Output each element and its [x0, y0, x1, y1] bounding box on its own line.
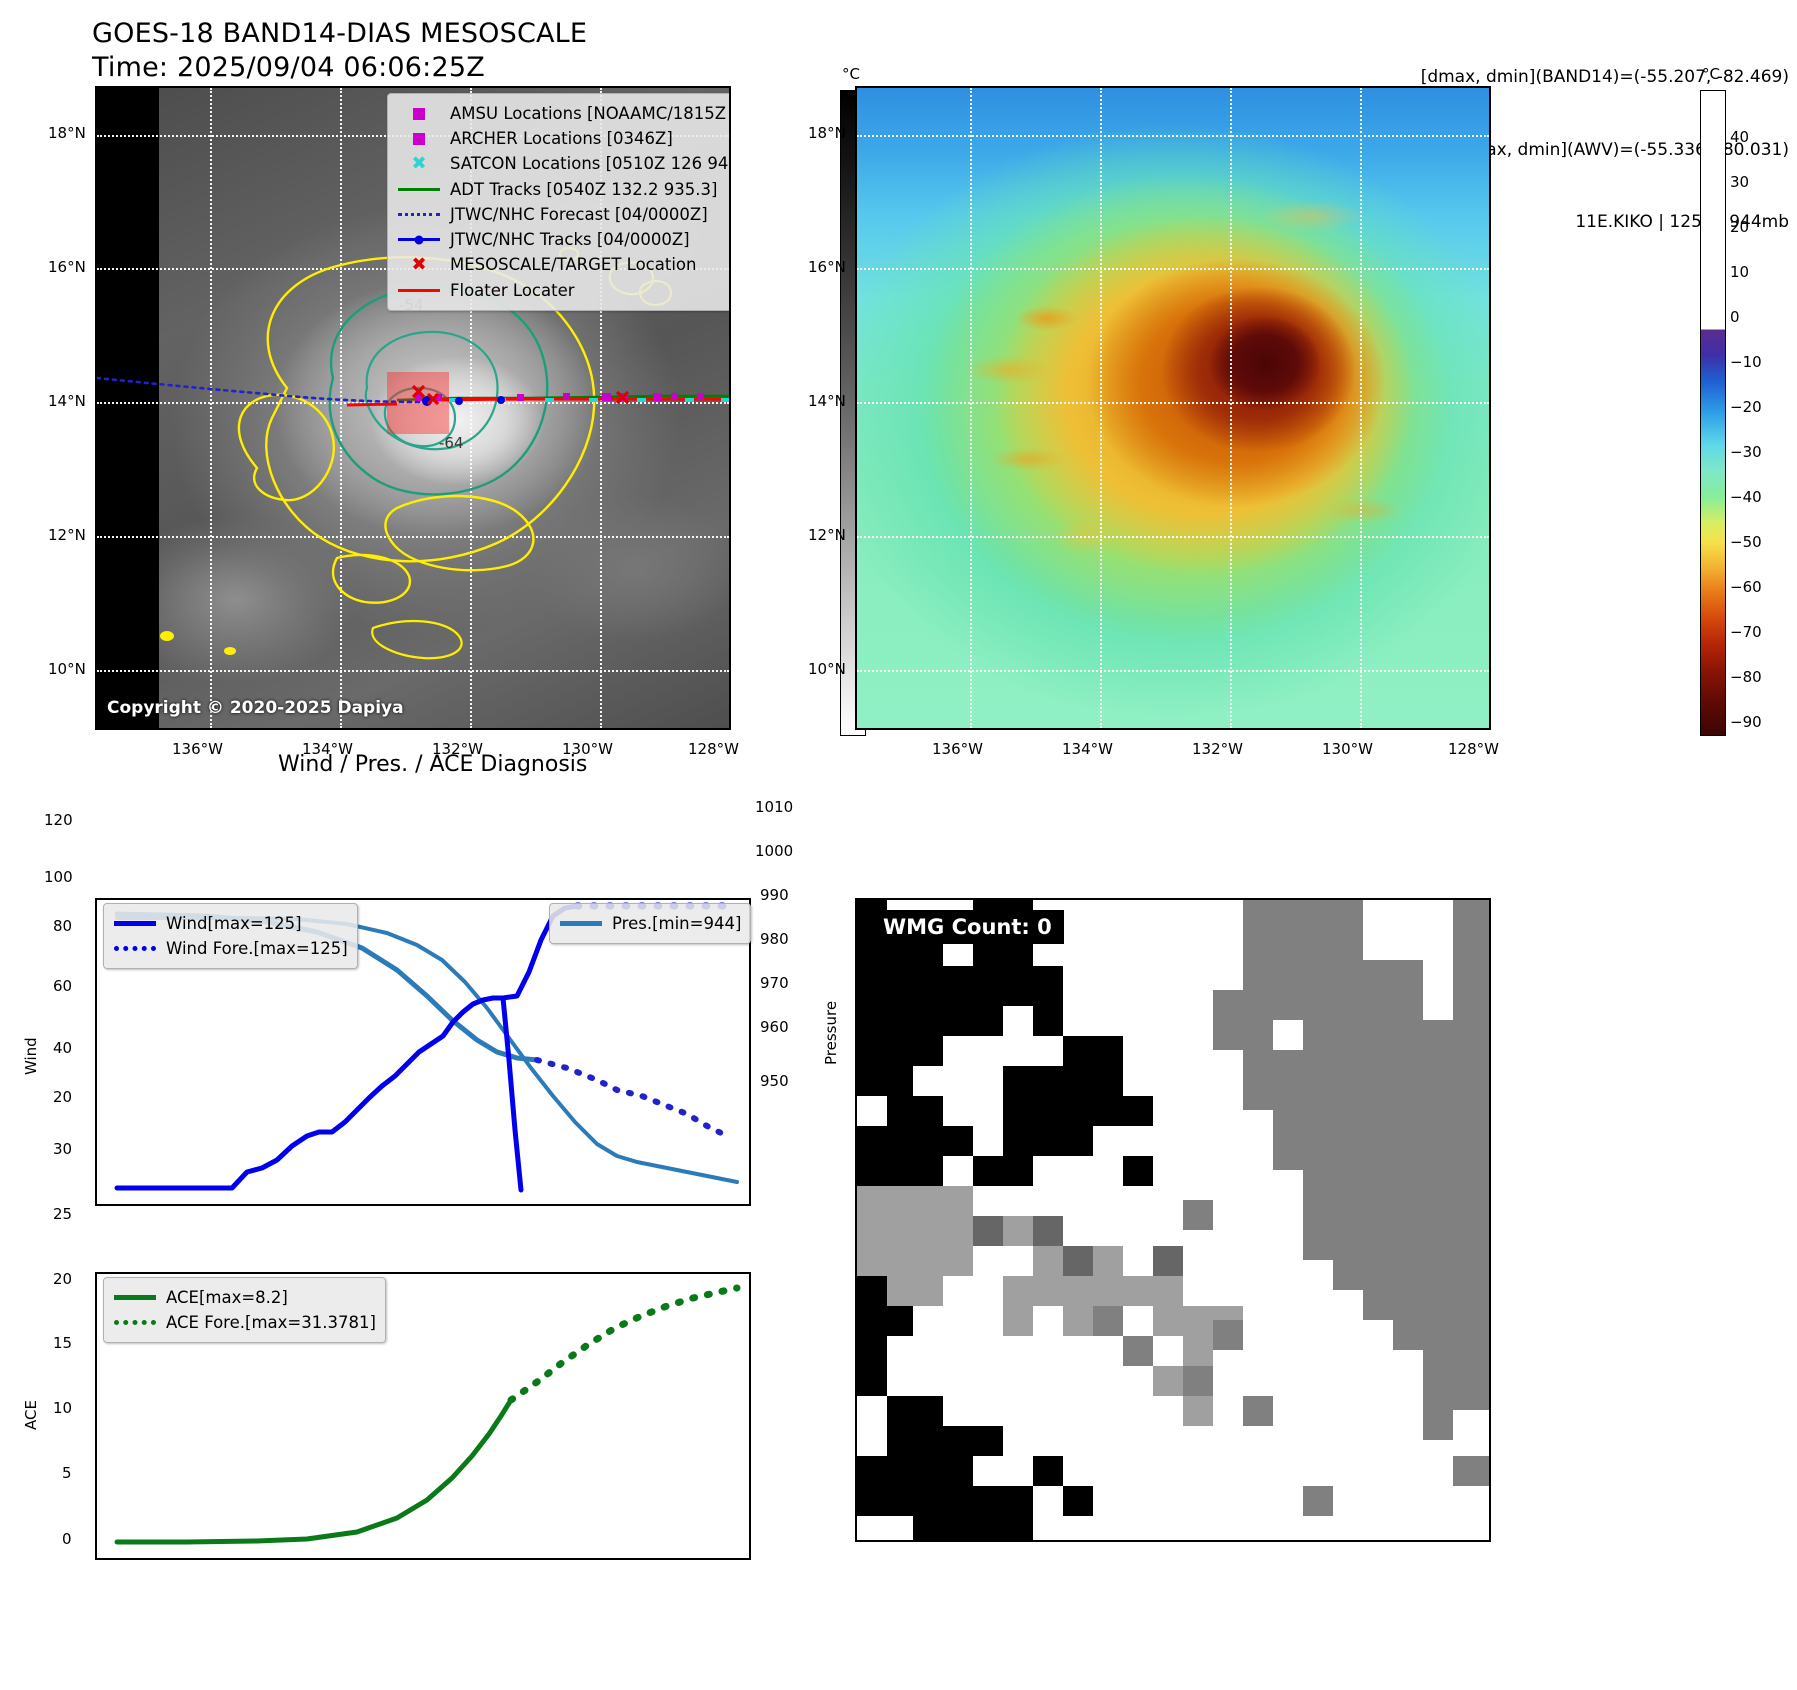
legend-label: AMSU Locations [NOAAMC/1815Z 104 973] — [450, 101, 731, 126]
legend-item-floater-locater: Floater Locater — [397, 278, 731, 303]
ace-ytick-25: 25 — [53, 1205, 72, 1223]
ace-ytick-15: 15 — [53, 1334, 72, 1352]
wmg-count-badge: WMG Count: 0 — [871, 910, 1064, 944]
blue-line-icon — [113, 921, 157, 926]
gridline-lon-130 — [1360, 88, 1362, 728]
gridline-lon-128 — [730, 88, 731, 728]
awv-cb-tick-m20: −20 — [1730, 398, 1762, 416]
legend-label: Wind Fore.[max=125] — [166, 936, 348, 961]
ace-ytick-30: 30 — [53, 1140, 72, 1158]
awv-cb-tick-m10: −10 — [1730, 353, 1762, 371]
awv-cb-tick-0: 0 — [1730, 308, 1740, 326]
legend-item-satcon: ✖ SATCON Locations [0510Z 126 946] — [397, 151, 731, 176]
legend-item-jtwc-forecast: JTWC/NHC Forecast [04/0000Z] — [397, 202, 731, 227]
legend-label: JTWC/NHC Forecast [04/0000Z] — [450, 202, 708, 227]
awv-spiral-bands — [857, 88, 1489, 728]
gridline-lon-136 — [970, 88, 972, 728]
legend-label: JTWC/NHC Tracks [04/0000Z] — [450, 227, 690, 252]
wmg-gray-cells — [1093, 900, 1489, 1516]
wind-axis-label: Wind — [22, 1037, 40, 1075]
wmg-mask-grid — [857, 900, 1489, 1540]
ir-lat-tick-10: 10°N — [48, 660, 86, 678]
awv-lon-tick-134: 134°W — [1062, 740, 1113, 758]
wind-ytick-80: 80 — [53, 917, 72, 935]
legend-item-mesoscale-target: ✖ MESOSCALE/TARGET Location — [397, 252, 731, 277]
ir-lat-tick-12: 12°N — [48, 526, 86, 544]
legend-label: Wind[max=125] — [166, 911, 302, 936]
legend-item-jtwc-tracks: JTWC/NHC Tracks [04/0000Z] — [397, 227, 731, 252]
awv-enhanced-ir-panel[interactable] — [855, 86, 1491, 730]
ace-legend: ACE[max=8.2] ACE Fore.[max=31.3781] — [103, 1277, 386, 1343]
wmg-mask-panel[interactable]: WMG Count: 0 — [855, 898, 1491, 1542]
gridline-lat-18 — [857, 135, 1489, 137]
ir-lat-tick-16: 16°N — [48, 258, 86, 276]
legend-label: ACE[max=8.2] — [166, 1285, 288, 1310]
awv-lat-tick-18: 18°N — [808, 124, 846, 142]
wind-ytick-40: 40 — [53, 1039, 72, 1057]
blue-dotted-line-icon — [397, 213, 441, 216]
awv-colorbar-gradient — [1700, 90, 1726, 736]
legend-item-pressure: Pres.[min=944] — [559, 911, 741, 936]
pres-ytick-960: 960 — [760, 1018, 789, 1036]
ir-lat-tick-14: 14°N — [48, 392, 86, 410]
legend-label: ACE Fore.[max=31.3781] — [166, 1310, 376, 1335]
ace-axis-label: ACE — [22, 1400, 40, 1430]
awv-cb-tick-m50: −50 — [1730, 533, 1762, 551]
cyan-cross-icon: ✖ — [397, 155, 441, 173]
wind-ytick-120: 120 — [44, 811, 73, 829]
wind-ytick-100: 100 — [44, 868, 73, 886]
gridline-lat-12 — [857, 536, 1489, 538]
ir-lon-tick-128: 128°W — [688, 740, 739, 758]
legend-label: MESOSCALE/TARGET Location — [450, 252, 696, 277]
pres-ytick-1010: 1010 — [755, 798, 793, 816]
awv-cb-tick-m80: −80 — [1730, 668, 1762, 686]
ace-ytick-0: 0 — [62, 1530, 72, 1548]
gridline-lon-132 — [1230, 88, 1232, 728]
awv-lon-tick-132: 132°W — [1192, 740, 1243, 758]
awv-lon-tick-130: 130°W — [1322, 740, 1373, 758]
ir-band14-image-panel[interactable]: -54 -64 AMSU Locations [NOAAMC/1815Z 104… — [95, 86, 731, 730]
ir-lon-tick-136: 136°W — [172, 740, 223, 758]
gridline-lat-16 — [857, 268, 1489, 270]
legend-item-wind: Wind[max=125] — [113, 911, 348, 936]
awv-cb-tick-m40: −40 — [1730, 488, 1762, 506]
gridline-lon-128 — [1490, 88, 1491, 728]
wind-legend: Wind[max=125] Wind Fore.[max=125] — [103, 903, 358, 969]
diagnosis-subtitle: Wind / Pres. / ACE Diagnosis — [278, 752, 587, 777]
pressure-axis-label: Pressure — [822, 1001, 840, 1065]
wind-pressure-chart[interactable]: Wind[max=125] Wind Fore.[max=125] Pres.[… — [95, 898, 751, 1206]
awv-cb-tick-40: 40 — [1730, 128, 1749, 146]
awv-lat-tick-10: 10°N — [808, 660, 846, 678]
ir-legend: AMSU Locations [NOAAMC/1815Z 104 973] AR… — [387, 93, 731, 311]
awv-colorbar-unit: °C — [1702, 65, 1720, 83]
awv-cb-tick-m30: −30 — [1730, 443, 1762, 461]
green-line-icon — [397, 188, 441, 191]
legend-item-archer: ARCHER Locations [0346Z] — [397, 126, 731, 151]
blue-marker-line-icon — [397, 238, 441, 241]
legend-label: SATCON Locations [0510Z 126 946] — [450, 151, 731, 176]
pres-ytick-950: 950 — [760, 1072, 789, 1090]
wind-ytick-60: 60 — [53, 977, 72, 995]
awv-cb-tick-30: 30 — [1730, 173, 1749, 191]
copyright-notice: Copyright © 2020-2025 Dapiya — [107, 698, 404, 718]
legend-item-ace-forecast: ACE Fore.[max=31.3781] — [113, 1310, 376, 1335]
blue-dotted-icon — [113, 946, 157, 951]
awv-lat-tick-14: 14°N — [808, 392, 846, 410]
awv-cb-tick-m60: −60 — [1730, 578, 1762, 596]
ace-ytick-20: 20 — [53, 1270, 72, 1288]
awv-cb-tick-20: 20 — [1730, 218, 1749, 236]
gridline-lat-10 — [857, 670, 1489, 672]
awv-cb-tick-m70: −70 — [1730, 623, 1762, 641]
awv-cb-tick-10: 10 — [1730, 263, 1749, 281]
steelblue-line-icon — [559, 921, 603, 926]
ace-ytick-5: 5 — [62, 1464, 72, 1482]
pres-ytick-980: 980 — [760, 930, 789, 948]
magenta-square-icon — [397, 108, 441, 120]
ir-lat-tick-18: 18°N — [48, 124, 86, 142]
pressure-legend: Pres.[min=944] — [549, 903, 751, 944]
legend-item-wind-forecast: Wind Fore.[max=125] — [113, 936, 348, 961]
legend-label: ADT Tracks [0540Z 132.2 935.3] — [450, 177, 717, 202]
awv-lon-tick-128: 128°W — [1448, 740, 1499, 758]
legend-label: Floater Locater — [450, 278, 575, 303]
legend-label: Pres.[min=944] — [612, 911, 741, 936]
ace-ytick-10: 10 — [53, 1399, 72, 1417]
svg-text:-64: -64 — [439, 434, 464, 452]
legend-item-adt: ADT Tracks [0540Z 132.2 935.3] — [397, 177, 731, 202]
wind-ytick-20: 20 — [53, 1088, 72, 1106]
page-title: GOES-18 BAND14-DIAS MESOSCALE — [92, 18, 587, 49]
awv-cb-tick-m90: −90 — [1730, 713, 1762, 731]
green-dotted-icon — [113, 1320, 157, 1325]
red-line-icon — [397, 289, 441, 292]
legend-label: ARCHER Locations [0346Z] — [450, 126, 673, 151]
awv-colorbar: °C 40 30 20 10 0 −10 −20 −30 −40 −50 −60… — [1700, 60, 1790, 740]
ir-colorbar-unit: °C — [842, 65, 860, 83]
gridline-lon-134 — [1100, 88, 1102, 728]
timestamp-label: Time: 2025/09/04 06:06:25Z — [92, 52, 485, 83]
pres-ytick-1000: 1000 — [755, 842, 793, 860]
pres-ytick-990: 990 — [760, 886, 789, 904]
legend-item-amsu: AMSU Locations [NOAAMC/1815Z 104 973] — [397, 101, 731, 126]
awv-lat-tick-16: 16°N — [808, 258, 846, 276]
red-cross-icon: ✖ — [397, 256, 441, 274]
ace-chart[interactable]: ACE[max=8.2] ACE Fore.[max=31.3781] — [95, 1272, 751, 1560]
magenta-square-icon — [397, 133, 441, 145]
gridline-lat-14 — [857, 402, 1489, 404]
legend-item-ace: ACE[max=8.2] — [113, 1285, 376, 1310]
awv-lon-tick-136: 136°W — [932, 740, 983, 758]
green-line-icon — [113, 1295, 157, 1300]
awv-lat-tick-12: 12°N — [808, 526, 846, 544]
pres-ytick-970: 970 — [760, 974, 789, 992]
